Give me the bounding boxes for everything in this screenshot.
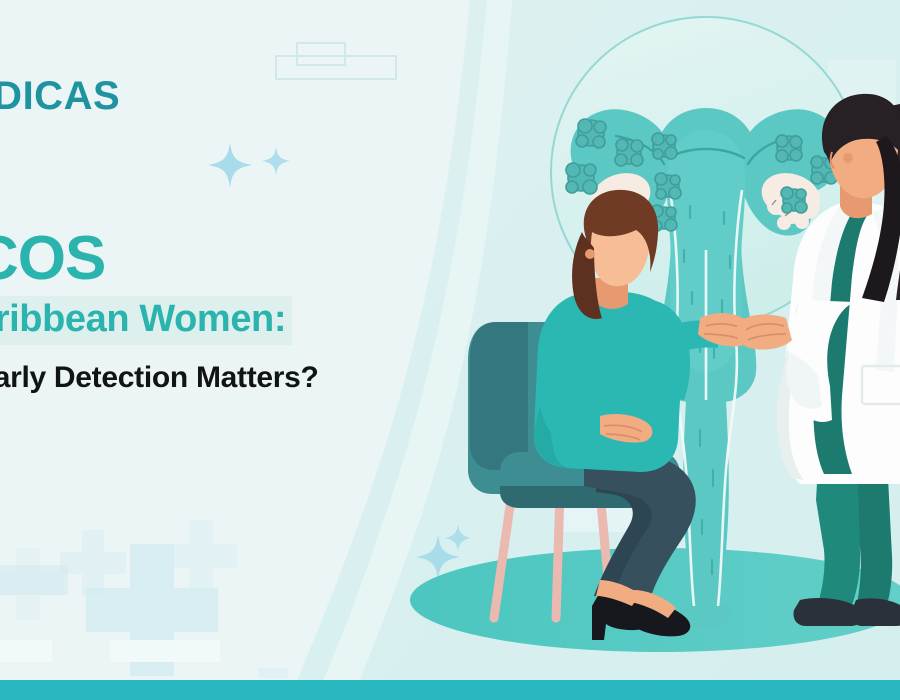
doctor-figure [736, 94, 900, 626]
headline-line-3: Early Detection Matters? [0, 361, 444, 394]
headline-line-1: COS [0, 228, 444, 290]
doctor-hand [736, 315, 792, 350]
chair-legs [494, 492, 610, 618]
hero-banner: EDICAS COS aribbean Women: Early Detecti… [0, 0, 900, 700]
chair-back-shade [470, 322, 528, 470]
bottom-accent-bar [0, 680, 900, 700]
doctor-leg-front [816, 463, 860, 610]
patient-figure [534, 190, 752, 640]
headline-block: COS aribbean Women: Early Detection Matt… [0, 228, 444, 394]
headline-line-2-highlight: aribbean Women: [0, 296, 292, 345]
brand-logo: EDICAS [0, 76, 120, 116]
headline-line-2: aribbean Women: [0, 298, 286, 341]
doctor-shoes [794, 598, 900, 626]
